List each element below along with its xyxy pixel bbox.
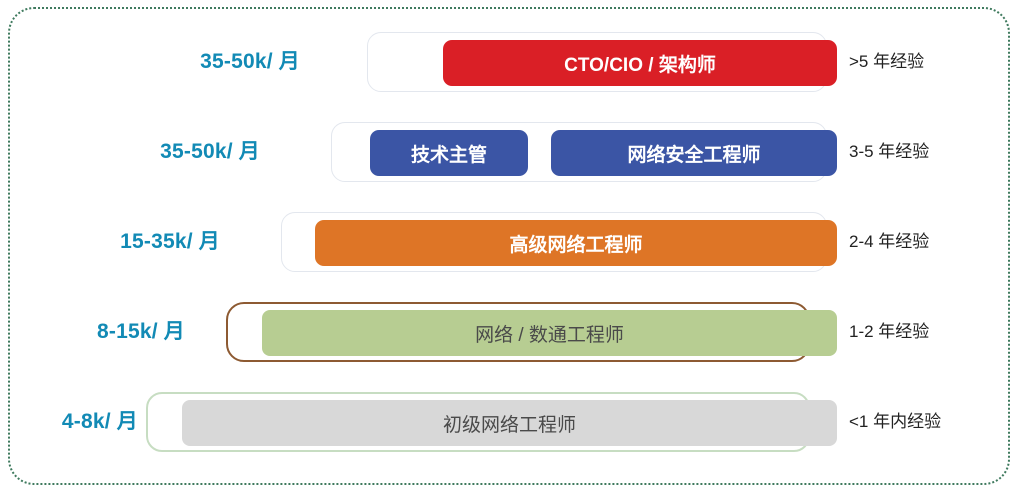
experience-label-4: 1-2 年经验 — [849, 296, 929, 368]
role-bar-tech-lead[interactable]: 技术主管 — [370, 130, 528, 176]
role-bar-network-datacom-engineer[interactable]: 网络 / 数通工程师 — [262, 310, 837, 356]
role-bar-senior-network-engineer[interactable]: 高级网络工程师 — [315, 220, 837, 266]
role-bar-network-security-engineer[interactable]: 网络安全工程师 — [551, 130, 837, 176]
salary-label-4: 8-15k/ 月 — [0, 296, 185, 368]
role-bar-junior-network-engineer[interactable]: 初级网络工程师 — [182, 400, 837, 446]
experience-label-1: >5 年经验 — [849, 26, 924, 98]
ladder-row-3: 15-35k/ 月 高级网络工程师 2-4 年经验 — [0, 206, 1020, 278]
experience-label-2: 3-5 年经验 — [849, 116, 929, 188]
experience-label-3: 2-4 年经验 — [849, 206, 929, 278]
role-bar-cto-cio[interactable]: CTO/CIO / 架构师 — [443, 40, 837, 86]
salary-label-2: 35-50k/ 月 — [60, 116, 260, 188]
ladder-row-4: 8-15k/ 月 网络 / 数通工程师 1-2 年经验 — [0, 296, 1020, 368]
career-ladder-chart: 35-50k/ 月 CTO/CIO / 架构师 >5 年经验 35-50k/ 月… — [0, 0, 1020, 494]
ladder-row-1: 35-50k/ 月 CTO/CIO / 架构师 >5 年经验 — [0, 26, 1020, 98]
ladder-row-2: 35-50k/ 月 技术主管 网络安全工程师 3-5 年经验 — [0, 116, 1020, 188]
salary-label-1: 35-50k/ 月 — [100, 26, 300, 98]
salary-label-5: 4-8k/ 月 — [0, 386, 138, 458]
salary-label-3: 15-35k/ 月 — [20, 206, 220, 278]
ladder-row-5: 4-8k/ 月 初级网络工程师 <1 年内经验 — [0, 386, 1020, 458]
experience-label-5: <1 年内经验 — [849, 386, 941, 458]
